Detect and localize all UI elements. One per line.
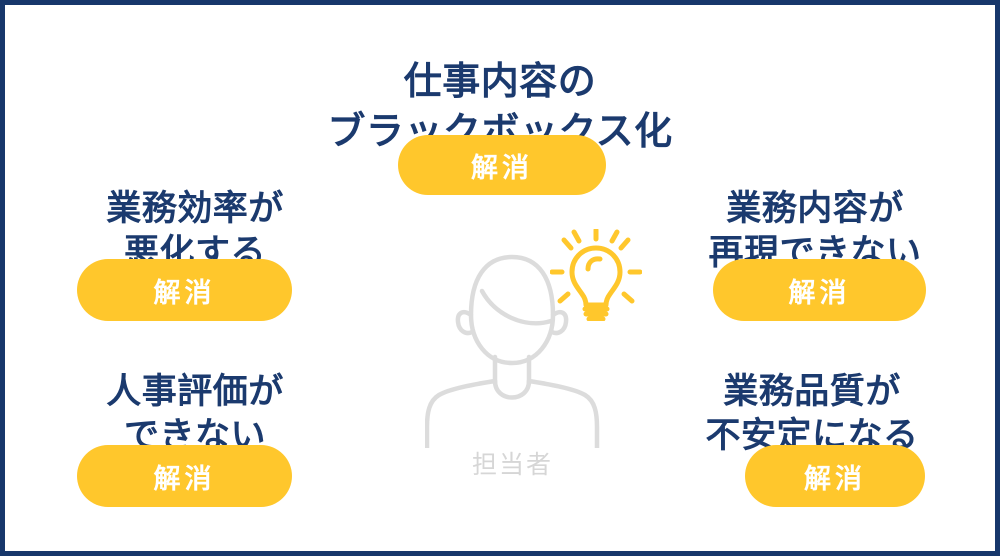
resolve-badge-blackbox[interactable]: 解消 [398, 135, 606, 195]
resolve-badge-quality[interactable]: 解消 [745, 445, 925, 507]
problem-line-1: 仕事内容の [327, 57, 672, 107]
problem-line-1: 業務品質が [657, 370, 967, 414]
resolve-badge-efficiency[interactable]: 解消 [77, 259, 292, 321]
problem-line-1: 業務内容が [665, 187, 965, 231]
resolve-badge-reproduce[interactable]: 解消 [713, 259, 926, 321]
problem-line-1: 業務効率が [45, 187, 345, 231]
person-caption: 担当者 [425, 445, 600, 481]
problem-line-1: 人事評価が [45, 370, 345, 414]
resolve-badge-evaluation[interactable]: 解消 [77, 445, 292, 507]
lightbulb-icon [550, 229, 642, 321]
diagram-canvas: 仕事内容の ブラックボックス化 解消 業務効率が 悪化する 解消 業務内容が 再… [0, 0, 1000, 556]
